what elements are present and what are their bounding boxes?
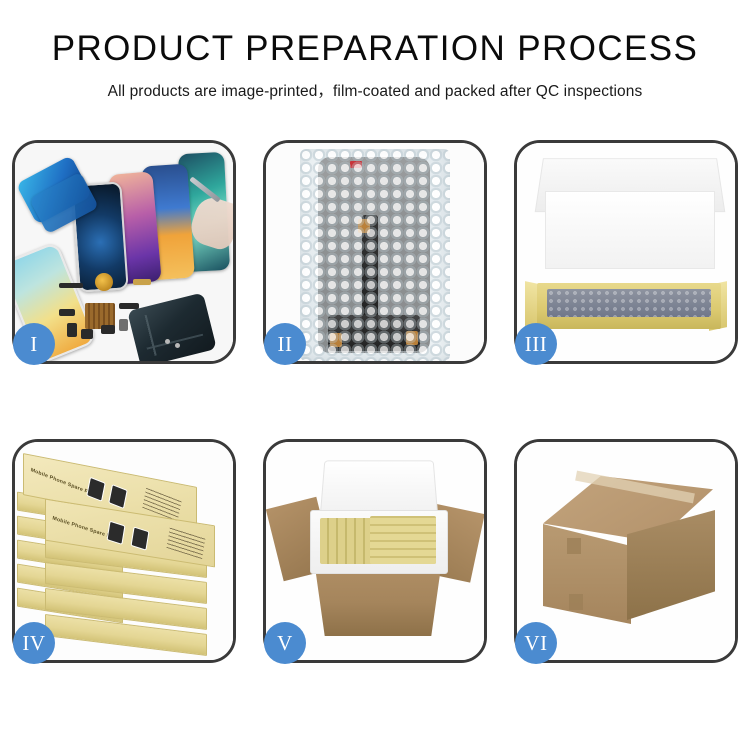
process-step-panel-2[interactable]: II [263,140,487,364]
process-step-panel-4[interactable]: Mobile Phone Spare Parts Mobile Phone Sp… [12,439,236,663]
step-badge-6: VI [515,622,557,664]
step-badge-1: I [13,323,55,365]
box-lid-inner [545,191,715,269]
packed-yellow-boxes-right [370,516,436,564]
product-preparation-page: PRODUCT PREPARATION PROCESS All products… [0,0,750,750]
process-step-panel-6[interactable]: VI [514,439,738,663]
process-step-panel-3[interactable]: III [514,140,738,364]
page-title: PRODUCT PREPARATION PROCESS [0,30,750,69]
gold-connector-a [358,219,370,233]
step-badge-5: V [264,622,306,664]
box-label-phone-icon-3 [107,521,126,545]
process-step-panel-5[interactable]: V [263,439,487,663]
grey-foam-padding [547,289,711,317]
carton-tab-lower [569,594,583,610]
step-badge-3: III [515,323,557,365]
box-label-phone-icon-2 [108,484,128,509]
process-steps-grid: I II [12,140,738,663]
box-label-phone-icon-4 [131,526,150,550]
step-badge-2: II [264,323,306,365]
red-qc-label [350,161,362,168]
gold-connector-b [330,333,342,347]
box-label-speclines-2 [167,527,206,559]
page-header: PRODUCT PREPARATION PROCESS All products… [0,0,750,101]
box-label-phone-icon-1 [86,477,106,502]
process-step-panel-1[interactable]: I [12,140,236,364]
page-subtitle: All products are image-printed，film-coat… [0,79,750,101]
gold-connector-c [406,331,418,345]
step-badge-4: IV [13,622,55,664]
carton-tab-upper [567,538,581,554]
